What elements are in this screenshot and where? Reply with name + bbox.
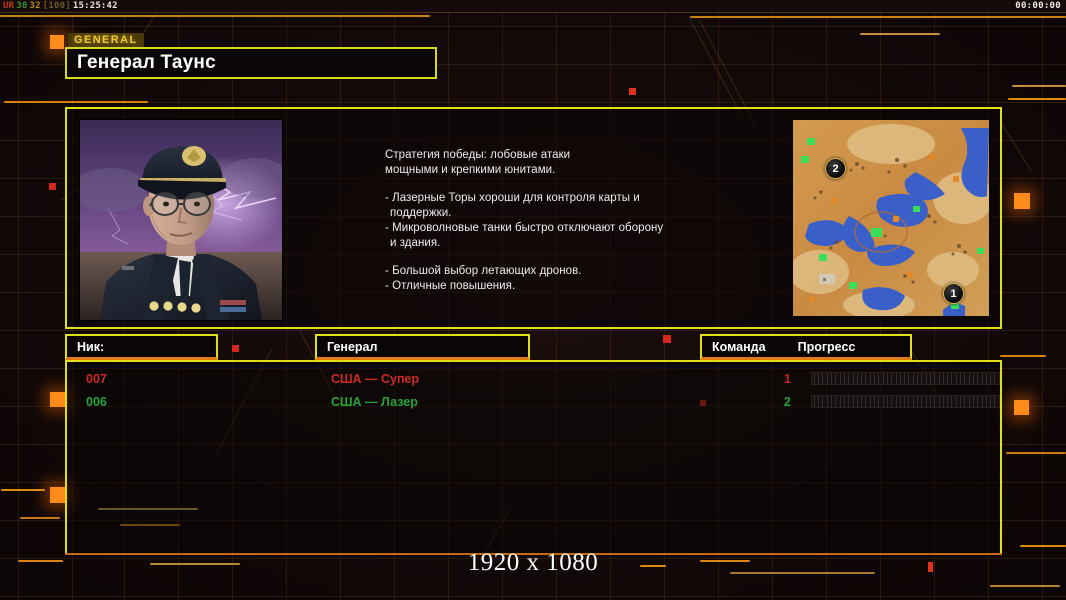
bg-accent-dash	[4, 101, 148, 103]
row-progress-bar	[811, 372, 1000, 385]
bg-accent-dash	[1020, 545, 1066, 547]
row-nick: 007	[67, 372, 316, 386]
table-row[interactable]: 007США — Супер1	[67, 367, 1000, 390]
bg-grid-line-horizontal	[0, 102, 1066, 103]
column-header-nick-label: Ник:	[67, 340, 104, 354]
column-header-team-label: Команда	[702, 340, 766, 354]
bg-accent-dash	[1008, 98, 1066, 100]
game-lobby-screen: UR3032[100]15:25:42 00:00:00 GENERAL Ген…	[0, 0, 1066, 600]
general-info-panel: Стратегия победы: лобовые атаки мощными …	[65, 107, 1002, 329]
bg-grid-line-horizontal	[0, 26, 1066, 27]
bg-accent-dash	[860, 33, 940, 35]
desc-bullet3: - Большой выбор летающих дронов.	[385, 264, 715, 279]
hud-stats: UR3032[100]15:25:42	[3, 1, 120, 11]
minimap-start-position-2: 2	[825, 158, 846, 179]
bg-grid-line-horizontal	[0, 596, 1066, 597]
bg-grid-line-horizontal	[0, 330, 1066, 331]
bg-accent-dash	[690, 16, 1066, 18]
row-general: США — Лазер	[316, 395, 686, 409]
column-header-progress-label: Прогресс	[766, 340, 856, 354]
bg-marker-square	[629, 88, 636, 95]
hud-value-3: [100]	[43, 1, 71, 11]
row-team: 2	[686, 395, 791, 409]
desc-intro-line2: мощными и крепкими юнитами.	[385, 163, 715, 178]
bg-accent-dash	[1006, 452, 1066, 454]
bg-marker-square	[663, 335, 671, 343]
hud-value-1: 30	[16, 1, 27, 11]
bg-marker-square	[50, 392, 65, 407]
column-header-general: Генерал	[315, 334, 530, 360]
column-header-general-label: Генерал	[317, 340, 377, 354]
bg-marker-square	[1014, 400, 1029, 415]
bg-marker-square	[49, 183, 56, 190]
bg-grid-line-vertical	[1042, 0, 1043, 600]
bg-marker-square	[1014, 193, 1030, 209]
column-header-team-progress: Команда Прогресс	[700, 334, 912, 360]
bg-marker-square	[232, 345, 239, 352]
match-timer: 00:00:00	[1015, 1, 1061, 11]
top-status-bar: UR3032[100]15:25:42 00:00:00	[0, 0, 1066, 13]
hud-clock: 15:25:42	[73, 1, 118, 11]
table-row[interactable]: 006США — Лазер2	[67, 390, 1000, 413]
bg-accent-dash	[20, 517, 60, 519]
desc-bullet2-line1: - Микроволновые танки быстро отключают о…	[385, 221, 715, 236]
desc-bullet2-line2: и здания.	[385, 236, 715, 251]
row-progress-bar	[811, 395, 1000, 408]
resolution-label: 1920 x 1080	[0, 549, 1066, 577]
bg-accent-dash	[990, 585, 1060, 587]
desc-bullet4: - Отличные повышения.	[385, 279, 715, 294]
bg-accent-dash	[0, 15, 430, 17]
desc-bullet1-line2: поддержки.	[385, 206, 715, 221]
column-header-nick: Ник:	[65, 334, 218, 360]
desc-intro-line1: Стратегия победы: лобовые атаки	[385, 148, 715, 163]
minimap-start-position-1: 1	[943, 283, 964, 304]
bg-accent-dash	[1012, 85, 1066, 87]
row-nick: 006	[67, 395, 316, 409]
hud-value-2: 32	[30, 1, 41, 11]
row-general: США — Супер	[316, 372, 686, 386]
minimap[interactable]: 2 1	[791, 118, 991, 318]
hud-label: UR	[3, 1, 14, 11]
bg-accent-dash	[1, 489, 45, 491]
bg-accent-dash	[1000, 355, 1046, 357]
row-team: 1	[686, 372, 791, 386]
bg-grid-line-vertical	[18, 0, 19, 600]
general-description: Стратегия победы: лобовые атаки мощными …	[385, 148, 715, 294]
general-name-field[interactable]: Генерал Таунс	[65, 47, 437, 79]
bg-marker-square	[50, 487, 66, 503]
bg-marker-square	[50, 35, 64, 49]
player-list-panel: 007США — Супер1006США — Лазер2	[65, 360, 1002, 555]
general-portrait	[79, 119, 283, 321]
page-title: Генерал Таунс	[67, 52, 216, 74]
desc-bullet1-line1: - Лазерные Торы хороши для контроля карт…	[385, 191, 715, 206]
